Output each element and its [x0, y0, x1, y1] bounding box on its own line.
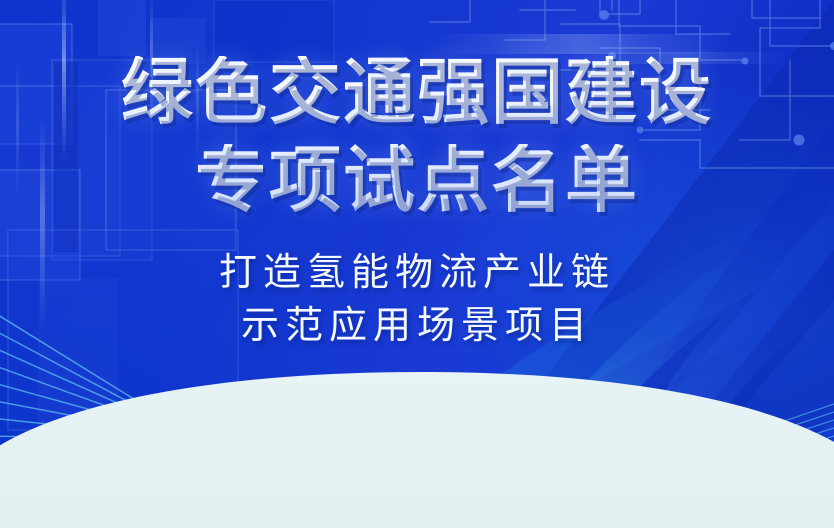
background-decoration-layer	[0, 0, 834, 528]
poster-banner: 绿色交通强国建设 专项试点名单 打造氢能物流产业链 示范应用场景项目	[0, 0, 834, 528]
horizontal-glow-group	[430, 34, 790, 64]
